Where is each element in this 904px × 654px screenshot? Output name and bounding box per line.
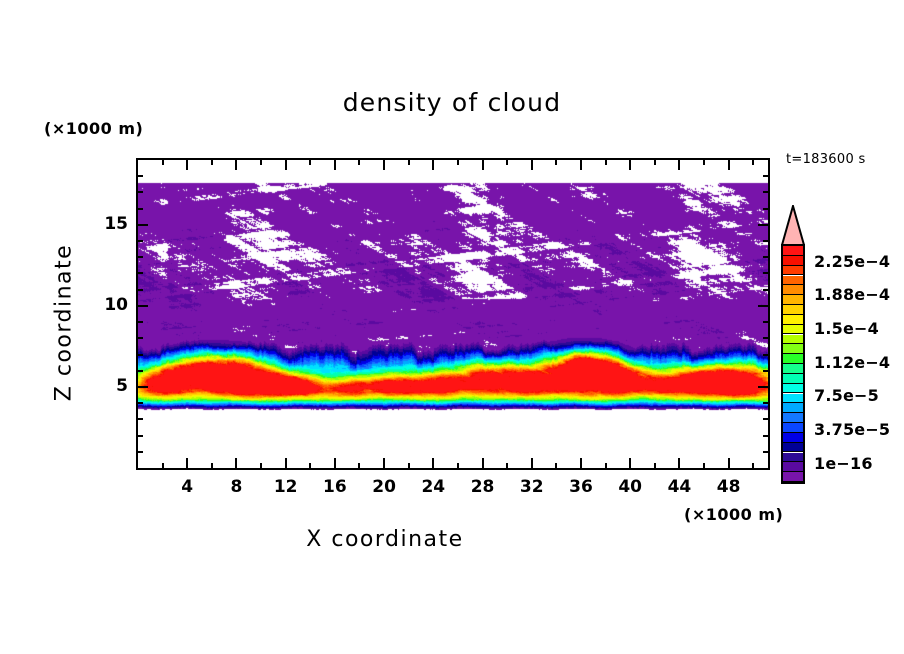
- colorbar-band: [783, 443, 803, 453]
- x-tick-label: 32: [512, 477, 552, 497]
- x-tick: [605, 160, 607, 165]
- y-tick-label: 10: [88, 295, 128, 315]
- x-tick-label: 20: [364, 477, 404, 497]
- x-tick-label: 8: [216, 477, 256, 497]
- y-tick-label: 15: [88, 214, 128, 234]
- y-tick: [138, 256, 143, 258]
- x-tick-label: 28: [463, 477, 503, 497]
- colorbar-tick-label: 1e−16: [814, 454, 873, 473]
- colorbar-band: [783, 325, 803, 335]
- x-tick: [728, 458, 730, 468]
- y-axis-units-label: (×1000 m): [44, 119, 143, 138]
- y-tick: [138, 224, 148, 226]
- figure-canvas: density of cloud (×1000 m) (×1000 m) X c…: [0, 0, 904, 654]
- x-tick: [457, 463, 459, 468]
- colorbar-band: [783, 453, 803, 463]
- y-tick: [138, 451, 143, 453]
- y-tick: [138, 354, 143, 356]
- colorbar-tick-label: 1.88e−4: [814, 285, 890, 304]
- x-tick: [703, 463, 705, 468]
- x-tick: [432, 458, 434, 468]
- x-tick: [285, 160, 287, 170]
- x-tick: [358, 160, 360, 165]
- colorbar: [781, 244, 805, 484]
- colorbar-band: [783, 413, 803, 423]
- y-tick: [138, 402, 143, 404]
- y-tick: [763, 191, 768, 193]
- x-tick: [629, 160, 631, 170]
- x-tick: [334, 458, 336, 468]
- x-tick: [555, 463, 557, 468]
- colorbar-band: [783, 364, 803, 374]
- x-tick: [506, 160, 508, 165]
- x-tick: [211, 160, 213, 165]
- colorbar-extend-arrow: [781, 205, 805, 246]
- y-tick: [138, 240, 143, 242]
- y-tick: [138, 305, 148, 307]
- x-tick: [457, 160, 459, 165]
- colorbar-band: [783, 305, 803, 315]
- y-tick: [763, 256, 768, 258]
- x-tick-label: 16: [315, 477, 355, 497]
- x-tick: [383, 160, 385, 170]
- x-tick-label: 12: [266, 477, 306, 497]
- x-tick: [285, 458, 287, 468]
- colorbar-band: [783, 394, 803, 404]
- x-tick: [235, 160, 237, 170]
- y-tick: [763, 451, 768, 453]
- x-tick-label: 36: [561, 477, 601, 497]
- y-tick-label: 5: [88, 376, 128, 396]
- colorbar-band: [783, 295, 803, 305]
- y-tick: [763, 370, 768, 372]
- x-tick-label: 44: [659, 477, 699, 497]
- x-tick: [752, 160, 754, 165]
- x-tick: [408, 160, 410, 165]
- y-tick: [763, 321, 768, 323]
- y-tick: [138, 321, 143, 323]
- x-tick: [408, 463, 410, 468]
- x-tick-label: 48: [709, 477, 749, 497]
- y-tick: [758, 224, 768, 226]
- colorbar-tick-label: 1.12e−4: [814, 353, 890, 372]
- x-tick-label: 40: [610, 477, 650, 497]
- colorbar-band: [783, 374, 803, 384]
- x-tick: [260, 463, 262, 468]
- y-tick: [763, 272, 768, 274]
- y-tick: [763, 208, 768, 210]
- x-tick: [482, 458, 484, 468]
- x-tick: [605, 463, 607, 468]
- colorbar-band: [783, 266, 803, 276]
- x-tick: [580, 458, 582, 468]
- colorbar-band: [783, 462, 803, 472]
- x-tick: [728, 160, 730, 170]
- x-tick: [186, 160, 188, 170]
- chart-title: density of cloud: [0, 88, 904, 117]
- y-tick: [763, 175, 768, 177]
- colorbar-band: [783, 384, 803, 394]
- x-tick: [654, 463, 656, 468]
- x-tick-label: 24: [413, 477, 453, 497]
- x-tick: [555, 160, 557, 165]
- x-axis-title: X coordinate: [0, 527, 770, 552]
- y-tick: [138, 418, 143, 420]
- colorbar-tick-label: 3.75e−5: [814, 420, 890, 439]
- y-tick: [763, 418, 768, 420]
- x-tick: [531, 458, 533, 468]
- x-axis-units-label: (×1000 m): [684, 505, 783, 524]
- colorbar-band: [783, 246, 803, 256]
- colorbar-band: [783, 285, 803, 295]
- x-tick: [383, 458, 385, 468]
- y-tick: [138, 175, 143, 177]
- x-tick: [309, 160, 311, 165]
- y-tick: [763, 289, 768, 291]
- x-tick: [629, 458, 631, 468]
- y-tick: [763, 435, 768, 437]
- y-tick: [138, 386, 148, 388]
- y-tick: [763, 337, 768, 339]
- colorbar-tick-label: 7.5e−5: [814, 386, 879, 405]
- plot-area: [136, 158, 770, 470]
- colorbar-band: [783, 433, 803, 443]
- timestamp-annotation: t=183600 s: [786, 152, 866, 167]
- y-tick: [763, 240, 768, 242]
- colorbar-band: [783, 403, 803, 413]
- y-tick: [763, 402, 768, 404]
- colorbar-band: [783, 344, 803, 354]
- y-tick: [138, 435, 143, 437]
- colorbar-band: [783, 335, 803, 345]
- x-tick: [260, 160, 262, 165]
- y-axis-title: Z coordinate: [52, 203, 77, 443]
- y-tick: [758, 305, 768, 307]
- colorbar-band: [783, 354, 803, 364]
- contour-field: [138, 160, 768, 468]
- y-tick: [138, 191, 143, 193]
- y-tick: [138, 370, 143, 372]
- x-tick: [654, 160, 656, 165]
- y-tick: [138, 272, 143, 274]
- x-tick: [678, 458, 680, 468]
- x-tick: [211, 463, 213, 468]
- colorbar-tick-label: 1.5e−4: [814, 319, 879, 338]
- colorbar-band: [783, 472, 803, 482]
- x-tick: [531, 160, 533, 170]
- x-tick: [752, 463, 754, 468]
- y-tick: [138, 208, 143, 210]
- colorbar-tick-label: 2.25e−4: [814, 252, 890, 271]
- colorbar-band: [783, 315, 803, 325]
- x-tick: [309, 463, 311, 468]
- x-tick: [334, 160, 336, 170]
- y-tick: [763, 354, 768, 356]
- x-tick: [703, 160, 705, 165]
- x-tick: [358, 463, 360, 468]
- y-tick: [138, 337, 143, 339]
- x-tick: [186, 458, 188, 468]
- x-tick-label: 4: [167, 477, 207, 497]
- colorbar-band: [783, 276, 803, 286]
- y-tick: [758, 386, 768, 388]
- x-tick: [580, 160, 582, 170]
- colorbar-band: [783, 423, 803, 433]
- x-tick: [678, 160, 680, 170]
- x-tick: [162, 463, 164, 468]
- colorbar-band: [783, 256, 803, 266]
- x-tick: [506, 463, 508, 468]
- x-tick: [482, 160, 484, 170]
- y-tick: [138, 289, 143, 291]
- x-tick: [162, 160, 164, 165]
- x-tick: [432, 160, 434, 170]
- x-tick: [235, 458, 237, 468]
